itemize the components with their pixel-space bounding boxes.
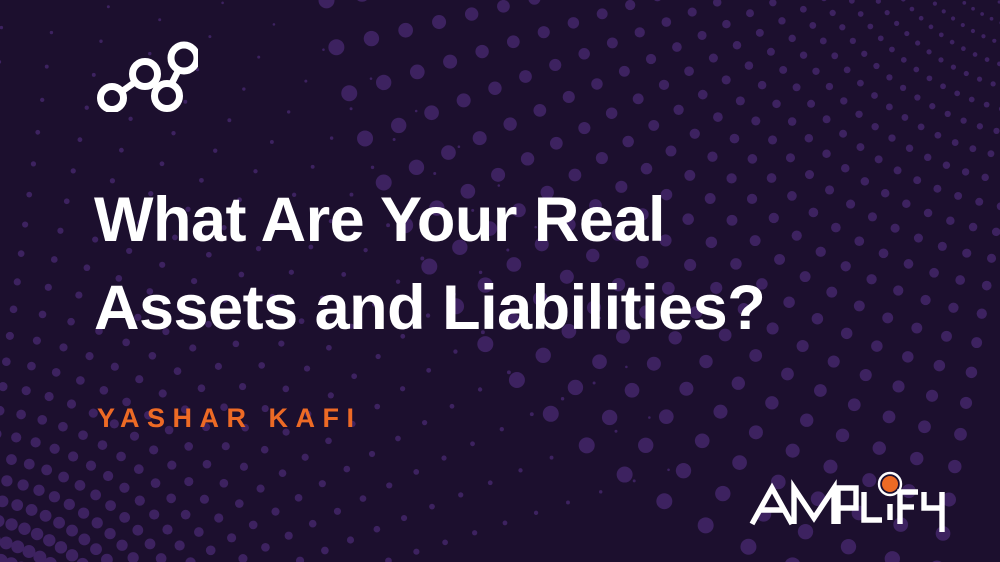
amplify-wordmark [752,488,942,532]
author-byline: YASHAR KAFI [97,402,362,434]
title-card: What Are Your Real Assets and Liabilitie… [0,0,1000,562]
amplify-logo: AMPLIFY [748,462,952,538]
title-line-1: What Are Your Real [94,176,894,264]
page-title: What Are Your Real Assets and Liabilitie… [94,176,894,352]
title-line-2: Assets and Liabilities? [94,264,894,352]
amplify-dot-icon [879,473,901,495]
amplify-wordmark-label: AMPLIFY [748,538,749,539]
network-nodes-icon-circles [101,45,198,110]
brand-mark [92,38,198,112]
